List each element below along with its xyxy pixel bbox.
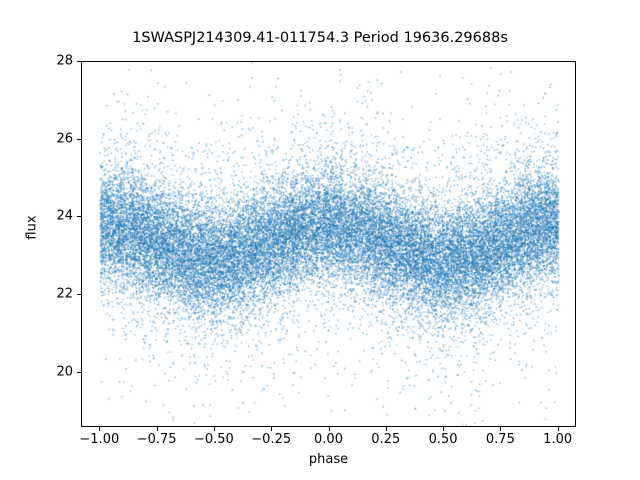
y-tick-label: 20 <box>33 364 73 379</box>
x-tick-label: 1.00 <box>523 432 593 447</box>
y-tick-mark <box>77 294 81 295</box>
x-tick-mark <box>99 427 100 431</box>
y-tick-mark <box>77 139 81 140</box>
plot-axes-area <box>81 61 576 427</box>
y-axis-label: flux <box>25 188 40 268</box>
x-tick-mark <box>386 427 387 431</box>
scatter-points-layer <box>82 62 576 427</box>
y-tick-label: 22 <box>33 287 73 302</box>
x-tick-mark <box>214 427 215 431</box>
y-tick-mark <box>77 61 81 62</box>
y-tick-mark <box>77 216 81 217</box>
x-tick-mark <box>558 427 559 431</box>
figure-canvas: 1SWASPJ214309.41-011754.3 Period 19636.2… <box>0 0 640 480</box>
y-tick-label: 26 <box>33 131 73 146</box>
x-axis-label: phase <box>81 452 576 467</box>
x-tick-mark <box>157 427 158 431</box>
chart-title: 1SWASPJ214309.41-011754.3 Period 19636.2… <box>0 30 640 46</box>
x-tick-mark <box>271 427 272 431</box>
y-tick-label: 28 <box>33 54 73 69</box>
x-axis-tick-labels: −1.00−0.75−0.50−0.250.000.250.500.751.00 <box>81 432 576 452</box>
x-tick-mark <box>329 427 330 431</box>
y-tick-mark <box>77 372 81 373</box>
x-tick-mark <box>500 427 501 431</box>
x-tick-mark <box>443 427 444 431</box>
